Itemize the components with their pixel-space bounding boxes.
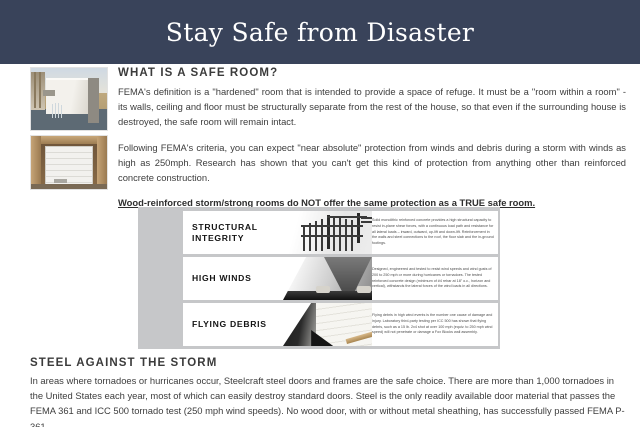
photo-floor-slab (31, 184, 107, 189)
safe-room-paragraph-1: FEMA's definition is a "hardened" room t… (118, 84, 626, 130)
band-note: Solid monolithic reinforced concrete pro… (372, 211, 494, 254)
steel-paragraph: In areas where tornadoes or hurricanes o… (30, 373, 626, 427)
band-note-text: Solid monolithic reinforced concrete pro… (372, 218, 494, 248)
photo-frame-post (97, 136, 107, 189)
band-label: FLYING DEBRIS (183, 319, 301, 329)
debris-piece (316, 286, 330, 293)
steel-section: STEEL AGAINST THE STORM In areas where t… (30, 357, 626, 427)
photo-doorway (88, 78, 99, 123)
concrete-safe-room-photo (30, 67, 108, 131)
photo-vent (43, 90, 55, 96)
infographic-band-flying-debris: FLYING DEBRIS Flying debris in high wind… (183, 303, 498, 346)
band-label: HIGH WINDS (183, 273, 301, 283)
band-note: Designed, engineered and tested to resis… (372, 257, 494, 300)
photo-garage-door-panel (45, 146, 94, 186)
fence-post (327, 215, 330, 249)
steel-garage-door-photo (30, 135, 108, 190)
page-root: Stay Safe from Disaster WHAT IS A SAFE R… (0, 0, 640, 427)
photo-rebar (52, 104, 53, 118)
steel-heading: STEEL AGAINST THE STORM (30, 357, 626, 369)
fence-post (357, 213, 360, 243)
safe-room-heading: WHAT IS A SAFE ROOM? (118, 67, 626, 79)
photo-wall-stud (39, 72, 41, 108)
band-label: STRUCTURAL INTEGRITY (183, 222, 301, 242)
photo-door-label (54, 179, 68, 183)
infographic-band-structural-integrity: STRUCTURAL INTEGRITY Solid monolithi (183, 211, 498, 254)
page-header: Stay Safe from Disaster (0, 0, 640, 64)
band-note-text: Designed, engineered and tested to resis… (372, 267, 494, 291)
protection-infographic: STRUCTURAL INTEGRITY Solid monolithi (138, 207, 500, 349)
safe-room-section: WHAT IS A SAFE ROOM? FEMA's definition i… (118, 67, 626, 208)
band-note-text: Flying debris in high wind events is the… (372, 313, 494, 337)
photo-header-beam (31, 136, 107, 144)
debris-piece (357, 286, 371, 293)
photo-rebar (58, 103, 59, 117)
band-note: Flying debris in high wind events is the… (372, 303, 494, 346)
photo-wall-stud (34, 72, 36, 108)
infographic-band-high-winds: HIGH WINDS Designed, engineered and test… (183, 257, 498, 300)
photo-frame-post (31, 136, 41, 189)
paragraph-spacer (118, 130, 626, 140)
photo-rebar (61, 105, 62, 118)
safe-room-paragraph-2: Following FEMA's criteria, you can expec… (118, 140, 626, 186)
page-title: Stay Safe from Disaster (166, 18, 474, 47)
photo-rebar (55, 103, 56, 118)
